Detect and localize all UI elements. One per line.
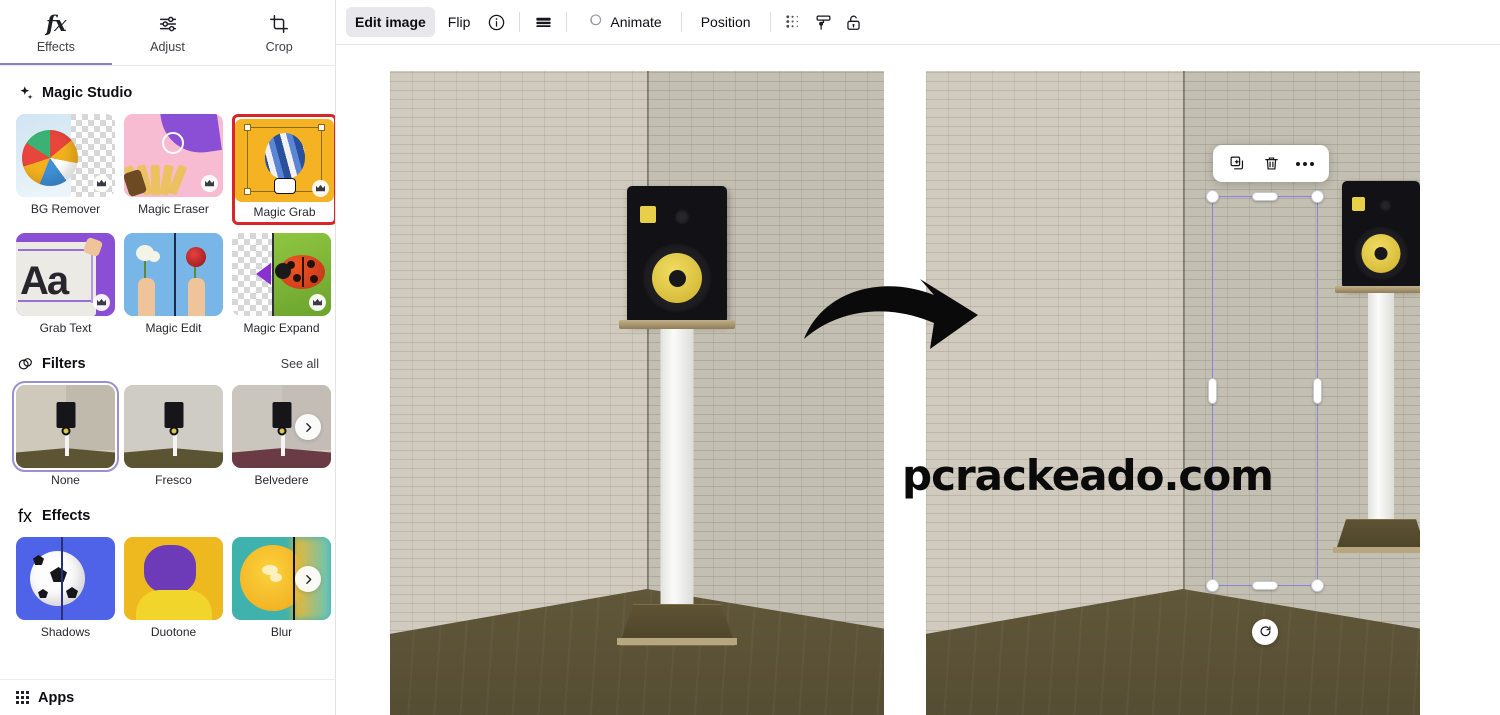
pro-crown-icon <box>93 175 110 192</box>
shadows-thumbnail <box>16 537 115 620</box>
tab-adjust-label: Adjust <box>150 40 185 54</box>
filter-circles-icon <box>16 355 34 373</box>
apps-label: Apps <box>38 690 74 706</box>
selection-context-toolbar[interactable] <box>1213 145 1329 182</box>
fx-icon: fx <box>16 507 34 525</box>
trash-icon[interactable] <box>1257 150 1285 178</box>
speaker-cabinet <box>627 186 727 324</box>
duotone-thumbnail <box>124 537 223 620</box>
effect-duotone[interactable]: Duotone <box>124 537 223 639</box>
bg-remover-thumbnail <box>16 114 115 197</box>
filter-none-label: None <box>51 473 80 487</box>
speaker-cabinet <box>1342 181 1420 289</box>
resize-handle-bottom <box>1252 581 1278 590</box>
pro-crown-icon <box>93 294 110 311</box>
grab-text-thumbnail: Aa <box>16 233 115 316</box>
filter-none-thumbnail <box>16 385 115 468</box>
fx-icon: fx <box>46 12 66 36</box>
magic-studio-title: Magic Studio <box>42 85 319 101</box>
curved-arrow-annotation <box>802 277 1012 367</box>
magic-studio-header: Magic Studio <box>16 82 319 104</box>
editor-main: Edit image Flip Animate Position <box>336 0 1500 715</box>
filters-title: Filters <box>42 356 273 372</box>
filter-belvedere-label: Belvedere <box>254 473 308 487</box>
stand-shelf <box>619 320 735 329</box>
watermark-text: pcrackeado.com <box>902 451 1273 500</box>
effects-row: Shadows Duotone <box>16 537 319 639</box>
toolbar-divider <box>770 12 771 32</box>
apps-section[interactable]: Apps <box>0 679 335 715</box>
blur-label: Blur <box>271 625 292 639</box>
magic-studio-row-2: Aa Grab Text <box>16 233 319 335</box>
magic-tool-magic-grab[interactable]: Magic Grab <box>232 114 335 225</box>
effects-side-panel: fx Effects Adjust <box>0 0 336 715</box>
magic-tool-magic-expand[interactable]: Magic Expand <box>232 233 331 335</box>
resize-handle-top-left <box>1206 190 1219 203</box>
tab-adjust[interactable]: Adjust <box>112 0 224 65</box>
animate-icon <box>586 12 604 33</box>
speaker-woofer <box>1353 225 1410 282</box>
paint-roller-icon[interactable] <box>811 7 837 37</box>
bg-remover-label: BG Remover <box>31 202 100 216</box>
magic-tool-magic-eraser[interactable]: Magic Eraser <box>124 114 223 225</box>
flip-button[interactable]: Flip <box>439 7 480 37</box>
magic-eraser-label: Magic Eraser <box>138 202 209 216</box>
tab-effects[interactable]: fx Effects <box>0 0 112 65</box>
filters-see-all[interactable]: See all <box>281 357 319 371</box>
resize-handle-bottom-right <box>1311 579 1324 592</box>
stand-pole <box>1368 293 1394 531</box>
toolbar-divider <box>519 12 520 32</box>
magic-grab-label: Magic Grab <box>253 202 315 221</box>
toolbar-divider <box>681 12 682 32</box>
resize-handle-top-right <box>1311 190 1324 203</box>
effects-title: Effects <box>42 508 319 524</box>
filter-none[interactable]: None <box>16 385 115 487</box>
design-page[interactable]: pcrackeado.com <box>336 45 1500 715</box>
design-canvas[interactable]: pcrackeado.com <box>336 44 1500 715</box>
crop-icon <box>268 12 290 36</box>
magic-studio-row-1: BG Remover <box>16 114 319 225</box>
magic-tool-bg-remover[interactable]: BG Remover <box>16 114 115 225</box>
shadows-label: Shadows <box>41 625 90 639</box>
tab-effects-label: Effects <box>37 40 75 54</box>
duplicate-icon[interactable] <box>1223 150 1251 178</box>
duotone-label: Duotone <box>151 625 196 639</box>
effects-next-chevron-icon[interactable] <box>295 566 321 592</box>
animate-label: Animate <box>610 14 661 30</box>
effect-shadows[interactable]: Shadows <box>16 537 115 639</box>
speaker-woofer <box>641 242 713 314</box>
resize-handle-right <box>1313 378 1322 404</box>
magic-tool-grab-text[interactable]: Aa Grab Text <box>16 233 115 335</box>
resize-handle-top <box>1252 192 1278 201</box>
filter-fresco[interactable]: Fresco <box>124 385 223 487</box>
lock-open-icon[interactable] <box>841 7 867 37</box>
halftone-dots-icon[interactable] <box>781 7 807 37</box>
filters-header: Filters See all <box>16 353 319 375</box>
pro-crown-icon <box>201 175 218 192</box>
magic-tool-magic-edit[interactable]: Magic Edit <box>124 233 223 335</box>
resize-handle-bottom-left <box>1206 579 1219 592</box>
pro-crown-icon <box>309 294 326 311</box>
speaker-logo <box>640 206 656 223</box>
sliders-icon <box>157 12 179 36</box>
speaker-tweeter <box>674 209 690 225</box>
pro-crown-icon <box>312 180 329 197</box>
info-icon[interactable] <box>483 7 509 37</box>
after-image[interactable] <box>926 71 1420 715</box>
magic-eraser-thumbnail <box>124 114 223 197</box>
speaker-tweeter <box>1379 199 1392 212</box>
rotate-icon[interactable] <box>1252 619 1278 645</box>
selection-bounding-box[interactable] <box>1212 196 1318 586</box>
speaker-logo <box>1352 197 1365 211</box>
effects-header: fx Effects <box>16 505 319 527</box>
filters-next-chevron-icon[interactable] <box>295 414 321 440</box>
grab-text-label: Grab Text <box>40 321 92 335</box>
speaker-stand-before <box>617 186 737 666</box>
canva-editor-window: fx Effects Adjust <box>0 0 1500 715</box>
magic-expand-thumbnail <box>232 233 331 316</box>
filter-fresco-thumbnail <box>124 385 223 468</box>
tab-crop-label: Crop <box>266 40 293 54</box>
grid-dots-icon <box>16 691 29 704</box>
tab-crop[interactable]: Crop <box>223 0 335 65</box>
panel-scroll-container[interactable]: Magic Studio BG Remover <box>0 66 335 679</box>
panel-tabs: fx Effects Adjust <box>0 0 335 66</box>
image-toolbar: Edit image Flip Animate Position <box>336 0 1500 44</box>
magic-edit-thumbnail <box>124 233 223 316</box>
position-button[interactable]: Position <box>692 7 760 37</box>
speaker-stand-after[interactable] <box>1331 181 1420 601</box>
magic-grab-thumbnail <box>235 119 334 202</box>
image-pair <box>390 71 1420 715</box>
magic-expand-label: Magic Expand <box>243 321 319 335</box>
sparkle-icon <box>16 84 34 102</box>
magic-edit-label: Magic Edit <box>145 321 201 335</box>
more-options-icon[interactable] <box>1291 150 1319 178</box>
animate-button[interactable]: Animate <box>577 7 670 37</box>
filters-row: None Fresco Belvedere <box>16 385 319 487</box>
filter-fresco-label: Fresco <box>155 473 192 487</box>
edit-image-button[interactable]: Edit image <box>346 7 435 37</box>
before-image[interactable] <box>390 71 884 715</box>
transparency-icon[interactable] <box>530 7 556 37</box>
stand-shelf <box>1335 286 1420 293</box>
toolbar-divider <box>566 12 567 32</box>
stand-pole <box>661 329 694 619</box>
resize-handle-left <box>1208 378 1217 404</box>
